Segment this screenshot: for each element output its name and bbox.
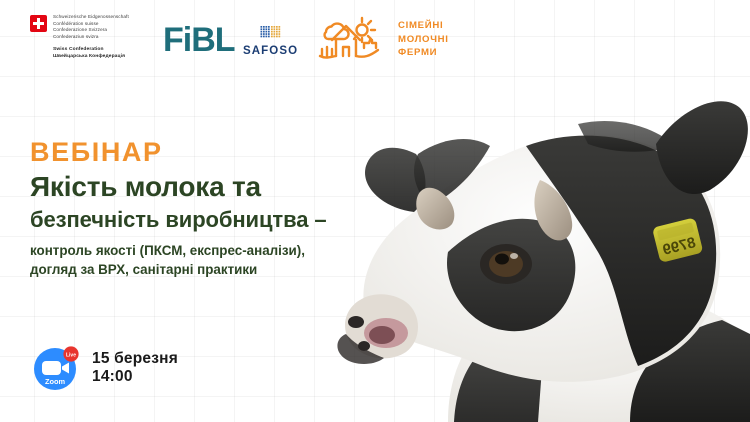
- swiss-line-de: Schweizerische Eidgenossenschaft: [53, 14, 129, 21]
- farm-barn-cow-icon: [312, 12, 390, 67]
- webinar-subtitle: контроль якості (ПКСМ, експрес-аналізи),…: [30, 241, 430, 279]
- webinar-subtitle-line-1: контроль якості (ПКСМ, експрес-аналізи),: [30, 241, 430, 260]
- webinar-kicker: ВЕБІНАР: [30, 138, 430, 166]
- safoso-logo: SAFOSO: [243, 26, 298, 58]
- zoom-live-badge-label: Live: [66, 352, 76, 358]
- swiss-line-rm: Confederaziun svizra: [53, 34, 129, 41]
- swiss-line-uk: Швейцарська Конфедерація: [53, 54, 129, 61]
- family-dairy-farms-text: СІМЕЙНІ МОЛОЧНІ ФЕРМИ: [398, 19, 449, 60]
- zoom-logo-icon: Zoom Live: [33, 345, 79, 391]
- webinar-copy-block: ВЕБІНАР Якість молока та безпечність вир…: [30, 138, 430, 279]
- svg-text:Zoom: Zoom: [45, 377, 66, 386]
- swiss-confederation-logo: Schweizerische Eidgenossenschaft Confédé…: [30, 14, 129, 61]
- farms-line-2: МОЛОЧНІ: [398, 33, 449, 47]
- meeting-info: Zoom Live 15 березня 14:00: [33, 345, 178, 391]
- cow-eye: [480, 244, 532, 284]
- webinar-title-line-2: безпечність виробництва –: [30, 207, 430, 233]
- webinar-date: 15 березня: [92, 350, 178, 368]
- zoom-badge[interactable]: Zoom Live: [33, 345, 79, 391]
- webinar-announcement-banner: Schweizerische Eidgenossenschaft Confédé…: [0, 0, 750, 422]
- fibl-logo: FiBL: [163, 23, 235, 57]
- swiss-line-en: Swiss Confederation: [53, 47, 129, 54]
- webinar-subtitle-line-2: догляд за ВРХ, санітарні практики: [30, 260, 430, 279]
- safoso-wordmark: SAFOSO: [243, 46, 298, 58]
- webinar-time: 14:00: [92, 368, 178, 386]
- farms-line-3: ФЕРМИ: [398, 46, 449, 60]
- family-dairy-farms-logo: СІМЕЙНІ МОЛОЧНІ ФЕРМИ: [312, 12, 449, 67]
- webinar-datetime: 15 березня 14:00: [92, 350, 178, 386]
- webinar-title-line-1: Якість молока та: [30, 171, 430, 203]
- swiss-confederation-text: Schweizerische Eidgenossenschaft Confédé…: [53, 14, 129, 61]
- safoso-dot-grid-icon: [260, 26, 282, 43]
- swiss-flag-icon: [30, 15, 47, 32]
- farms-line-1: СІМЕЙНІ: [398, 19, 449, 33]
